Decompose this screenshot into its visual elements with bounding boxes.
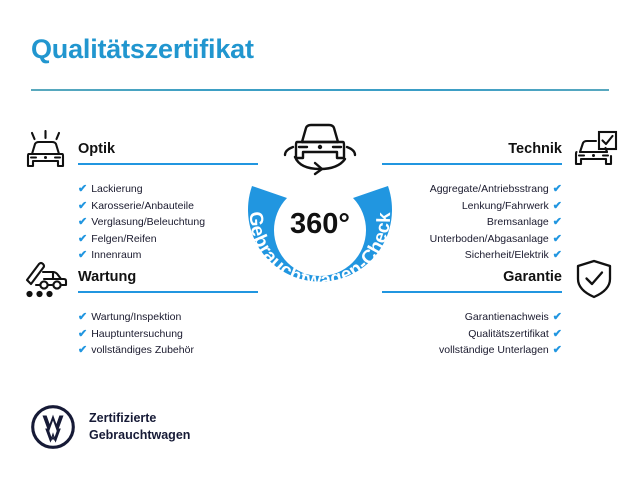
list-item-label: Wartung/Inspektion [91, 311, 181, 323]
list-item: ✔Hauptuntersuchung [78, 326, 258, 343]
check-icon: ✔ [78, 328, 87, 340]
car-shine-icon [22, 130, 70, 172]
check-icon: ✔ [78, 200, 87, 212]
list-item-label: Garantienachweis [465, 311, 549, 323]
shield-check-icon [570, 258, 618, 300]
check-icon: ✔ [78, 311, 87, 323]
section-garantie-list: Garantienachweis✔ Qualitätszertifikat✔ v… [382, 309, 562, 359]
certified-label-line2: Gebrauchtwagen [89, 427, 190, 444]
badge-degrees-label: 360° [222, 208, 418, 241]
list-item: ✔vollständiges Zubehör [78, 342, 258, 359]
certified-label: Zertifizierte Gebrauchtwagen [89, 410, 190, 444]
list-item: vollständige Unterlagen✔ [382, 342, 562, 359]
check-icon: ✔ [553, 183, 562, 195]
check-icon: ✔ [553, 233, 562, 245]
check-icon: ✔ [78, 216, 87, 228]
check-icon: ✔ [553, 344, 562, 356]
section-wartung-list: ✔Wartung/Inspektion ✔Hauptuntersuchung ✔… [78, 309, 258, 359]
volkswagen-certified-footer: Zertifizierte Gebrauchtwagen [31, 405, 190, 449]
list-item: ✔Wartung/Inspektion [78, 309, 258, 326]
check-icon: ✔ [78, 233, 87, 245]
list-item-label: Karosserie/Anbauteile [91, 200, 194, 212]
list-item-label: Bremsanlage [487, 216, 549, 228]
car-rotate-360-icon [275, 117, 365, 179]
volkswagen-logo [31, 405, 75, 449]
list-item-label: Felgen/Reifen [91, 233, 156, 245]
list-item-label: Unterboden/Abgasanlage [430, 233, 549, 245]
list-item-label: Lackierung [91, 183, 142, 195]
list-item: Qualitätszertifikat✔ [382, 326, 562, 343]
car-checkbox-icon [570, 130, 618, 172]
car-service-wrench-icon [22, 258, 70, 300]
list-item-label: vollständige Unterlagen [439, 344, 549, 356]
check-icon: ✔ [553, 216, 562, 228]
badge-360-gebrauchtwagen-check: Gebrauchtwagen-Check [222, 112, 418, 308]
certified-label-line1: Zertifizierte [89, 410, 190, 427]
check-icon: ✔ [553, 311, 562, 323]
list-item-label: Verglasung/Beleuchtung [91, 216, 205, 228]
list-item-label: Lenkung/Fahrwerk [462, 200, 549, 212]
list-item: Garantienachweis✔ [382, 309, 562, 326]
page-title: Qualitätszertifikat [31, 34, 254, 65]
list-item-label: Hauptuntersuchung [91, 328, 183, 340]
check-icon: ✔ [78, 183, 87, 195]
title-divider [31, 89, 609, 91]
check-icon: ✔ [78, 344, 87, 356]
certificate-page: Qualitätszertifikat [0, 0, 640, 480]
list-item-label: Qualitätszertifikat [468, 328, 549, 340]
list-item-label: Aggregate/Antriebsstrang [430, 183, 549, 195]
check-icon: ✔ [553, 200, 562, 212]
check-icon: ✔ [553, 328, 562, 340]
list-item-label: vollständiges Zubehör [91, 344, 194, 356]
